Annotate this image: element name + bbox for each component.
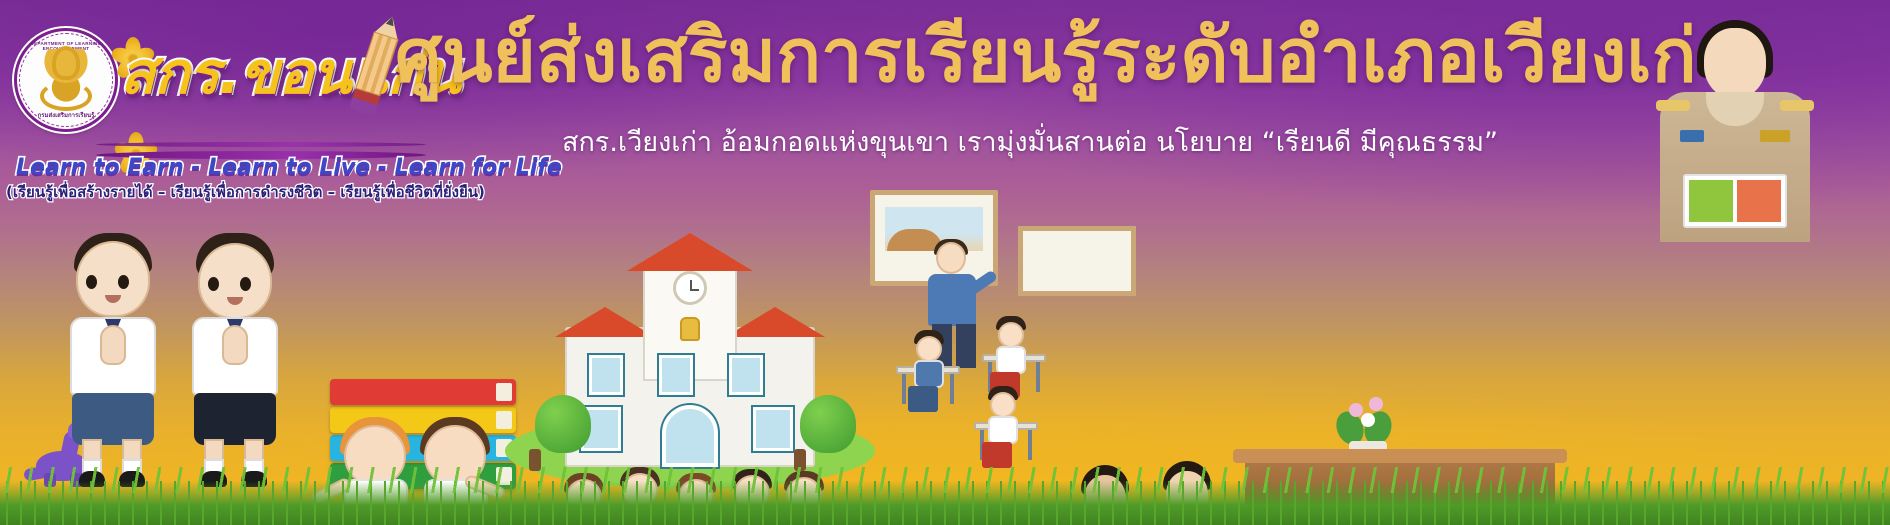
book-red	[330, 379, 516, 405]
school-children-group	[560, 353, 820, 473]
school-roof-left	[555, 307, 655, 337]
clock-icon	[673, 271, 707, 305]
slogan-thai: (เรียนรู้เพื่อสร้างรายได้ – เรียนรู้เพื่…	[6, 180, 418, 204]
bell-icon	[680, 317, 700, 341]
banner-root: DEPARTMENT OF LEARNING ENCOURAGEMENT กรม…	[0, 0, 1890, 525]
wai-student-girl	[180, 233, 290, 483]
department-seal: DEPARTMENT OF LEARNING ENCOURAGEMENT กรม…	[14, 28, 118, 132]
school-roof-right	[725, 307, 825, 337]
school-tower-roof	[627, 233, 753, 271]
seal-thai-text: กรมส่งเสริมการเรียนรู้	[20, 110, 112, 120]
epaulette-left	[1656, 100, 1690, 111]
name-badge	[1680, 130, 1704, 142]
director-face	[1704, 28, 1766, 98]
page-title: ศูนย์ส่งเสริมการเรียนรู้ระดับอำเภอเวียงเ…	[395, 18, 1725, 96]
seal-emblem-icon	[40, 49, 92, 111]
page-subtitle: สกร.เวียงเก่า อ้อมกอดแห่งขุนเขา เรามุ่งม…	[395, 120, 1665, 163]
slogan-english: Learn to Earn - Learn to Live - Learn fo…	[16, 155, 416, 180]
director-portrait	[1646, 4, 1824, 249]
open-book-icon	[1683, 174, 1787, 228]
grass-strip	[0, 481, 1890, 525]
wai-student-boy	[58, 233, 168, 483]
seal-inner-ring: DEPARTMENT OF LEARNING ENCOURAGEMENT กรม…	[19, 33, 113, 127]
logo-block[interactable]: DEPARTMENT OF LEARNING ENCOURAGEMENT กรม…	[0, 0, 420, 200]
epaulette-right	[1780, 100, 1814, 111]
rank-ribbon	[1760, 130, 1790, 142]
